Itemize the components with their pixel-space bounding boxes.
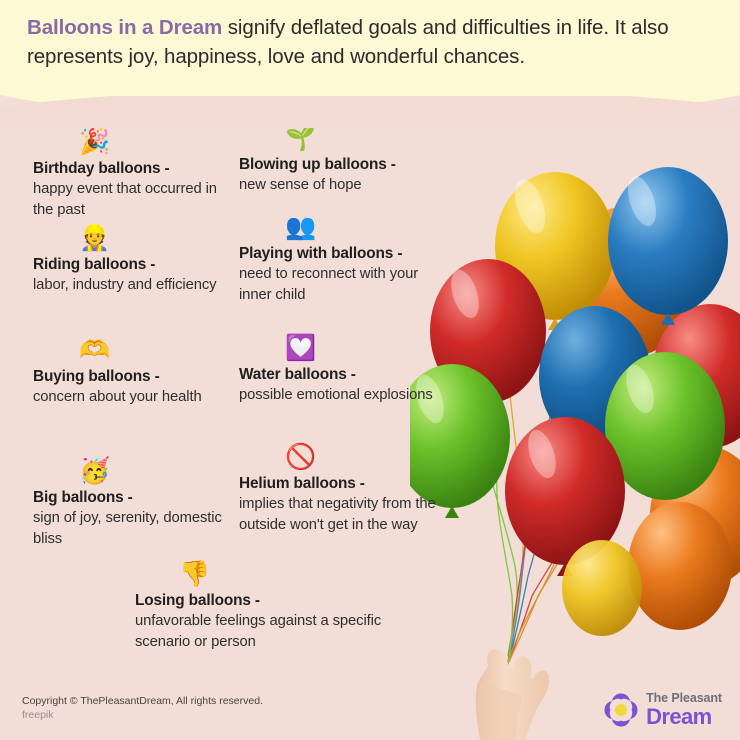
item-title: Riding balloons - [33,254,233,275]
image-credit-text: freepik [22,708,54,722]
interpretation-item-playing-with-balloons: 👥 Playing with balloons - need to reconn… [239,213,449,305]
item-description: need to reconnect with your inner child [239,264,449,305]
copyright-text: Copyright © ThePleasantDream, All rights… [22,694,263,708]
emoji-heart-icon: 💟 [285,334,449,364]
pleasant-dream-flower-icon [603,692,639,728]
celebrating-person-icon: 🥳 [79,457,233,487]
item-title: Losing balloons - [135,590,385,611]
brand-logo[interactable]: The Pleasant Dream [603,692,722,728]
item-title: Helium balloons - [239,473,449,494]
seedling-growing-icon: 🌱 [285,124,449,154]
prohibited-hand-icon: 🚫 [285,443,449,473]
interpretation-item-helium-balloons: 🚫 Helium balloons - implies that negativ… [239,443,449,535]
logo-bottom-text: Dream [646,706,722,728]
interpretation-item-riding-balloons: 👷 Riding balloons - labor, industry and … [33,224,233,296]
header-highlight: Balloons in a Dream [27,16,222,39]
infographic-poster: Balloons in a Dream signify deflated goa… [0,0,740,740]
interpretation-item-big-balloons: 🥳 Big balloons - sign of joy, serenity, … [33,457,233,549]
item-description: labor, industry and efficiency [33,275,233,296]
party-popper-icon: 🎉 [79,128,233,158]
interpretation-item-losing-balloons: 👎 Losing balloons - unfavorable feelings… [135,560,385,652]
item-description: happy event that occurred in the past [33,179,233,220]
group-of-people-icon: 👥 [285,213,449,243]
heart-in-hands-icon: 🫶 [79,336,233,366]
interpretation-item-blowing-up-balloons: 🌱 Blowing up balloons - new sense of hop… [239,124,449,196]
item-description: concern about your health [33,387,233,408]
interpretation-item-birthday-balloons: 🎉 Birthday balloons - happy event that o… [33,128,233,220]
item-description: new sense of hope [239,175,449,196]
item-title: Playing with balloons - [239,243,449,264]
item-description: sign of joy, serenity, domestic bliss [33,508,233,549]
logo-wordmark: The Pleasant Dream [646,692,722,728]
header-statement: Balloons in a Dream signify deflated goa… [27,13,717,71]
interpretation-item-water-balloons: 💟 Water balloons - possible emotional ex… [239,334,449,406]
thumbs-down-icon: 👎 [179,560,385,590]
item-title: Blowing up balloons - [239,154,449,175]
interpretation-item-buying-balloons: 🫶 Buying balloons - concern about your h… [33,336,233,408]
logo-top-text: The Pleasant [646,692,722,705]
item-title: Water balloons - [239,364,449,385]
item-description: implies that negativity from the outside… [239,494,449,535]
item-description: unfavorable feelings against a specific … [135,611,385,652]
item-title: Big balloons - [33,487,233,508]
item-title: Birthday balloons - [33,158,233,179]
balloon-artwork [410,96,740,740]
item-description: possible emotional explosions [239,385,449,406]
construction-worker-icon: 👷 [79,224,233,254]
item-title: Buying balloons - [33,366,233,387]
